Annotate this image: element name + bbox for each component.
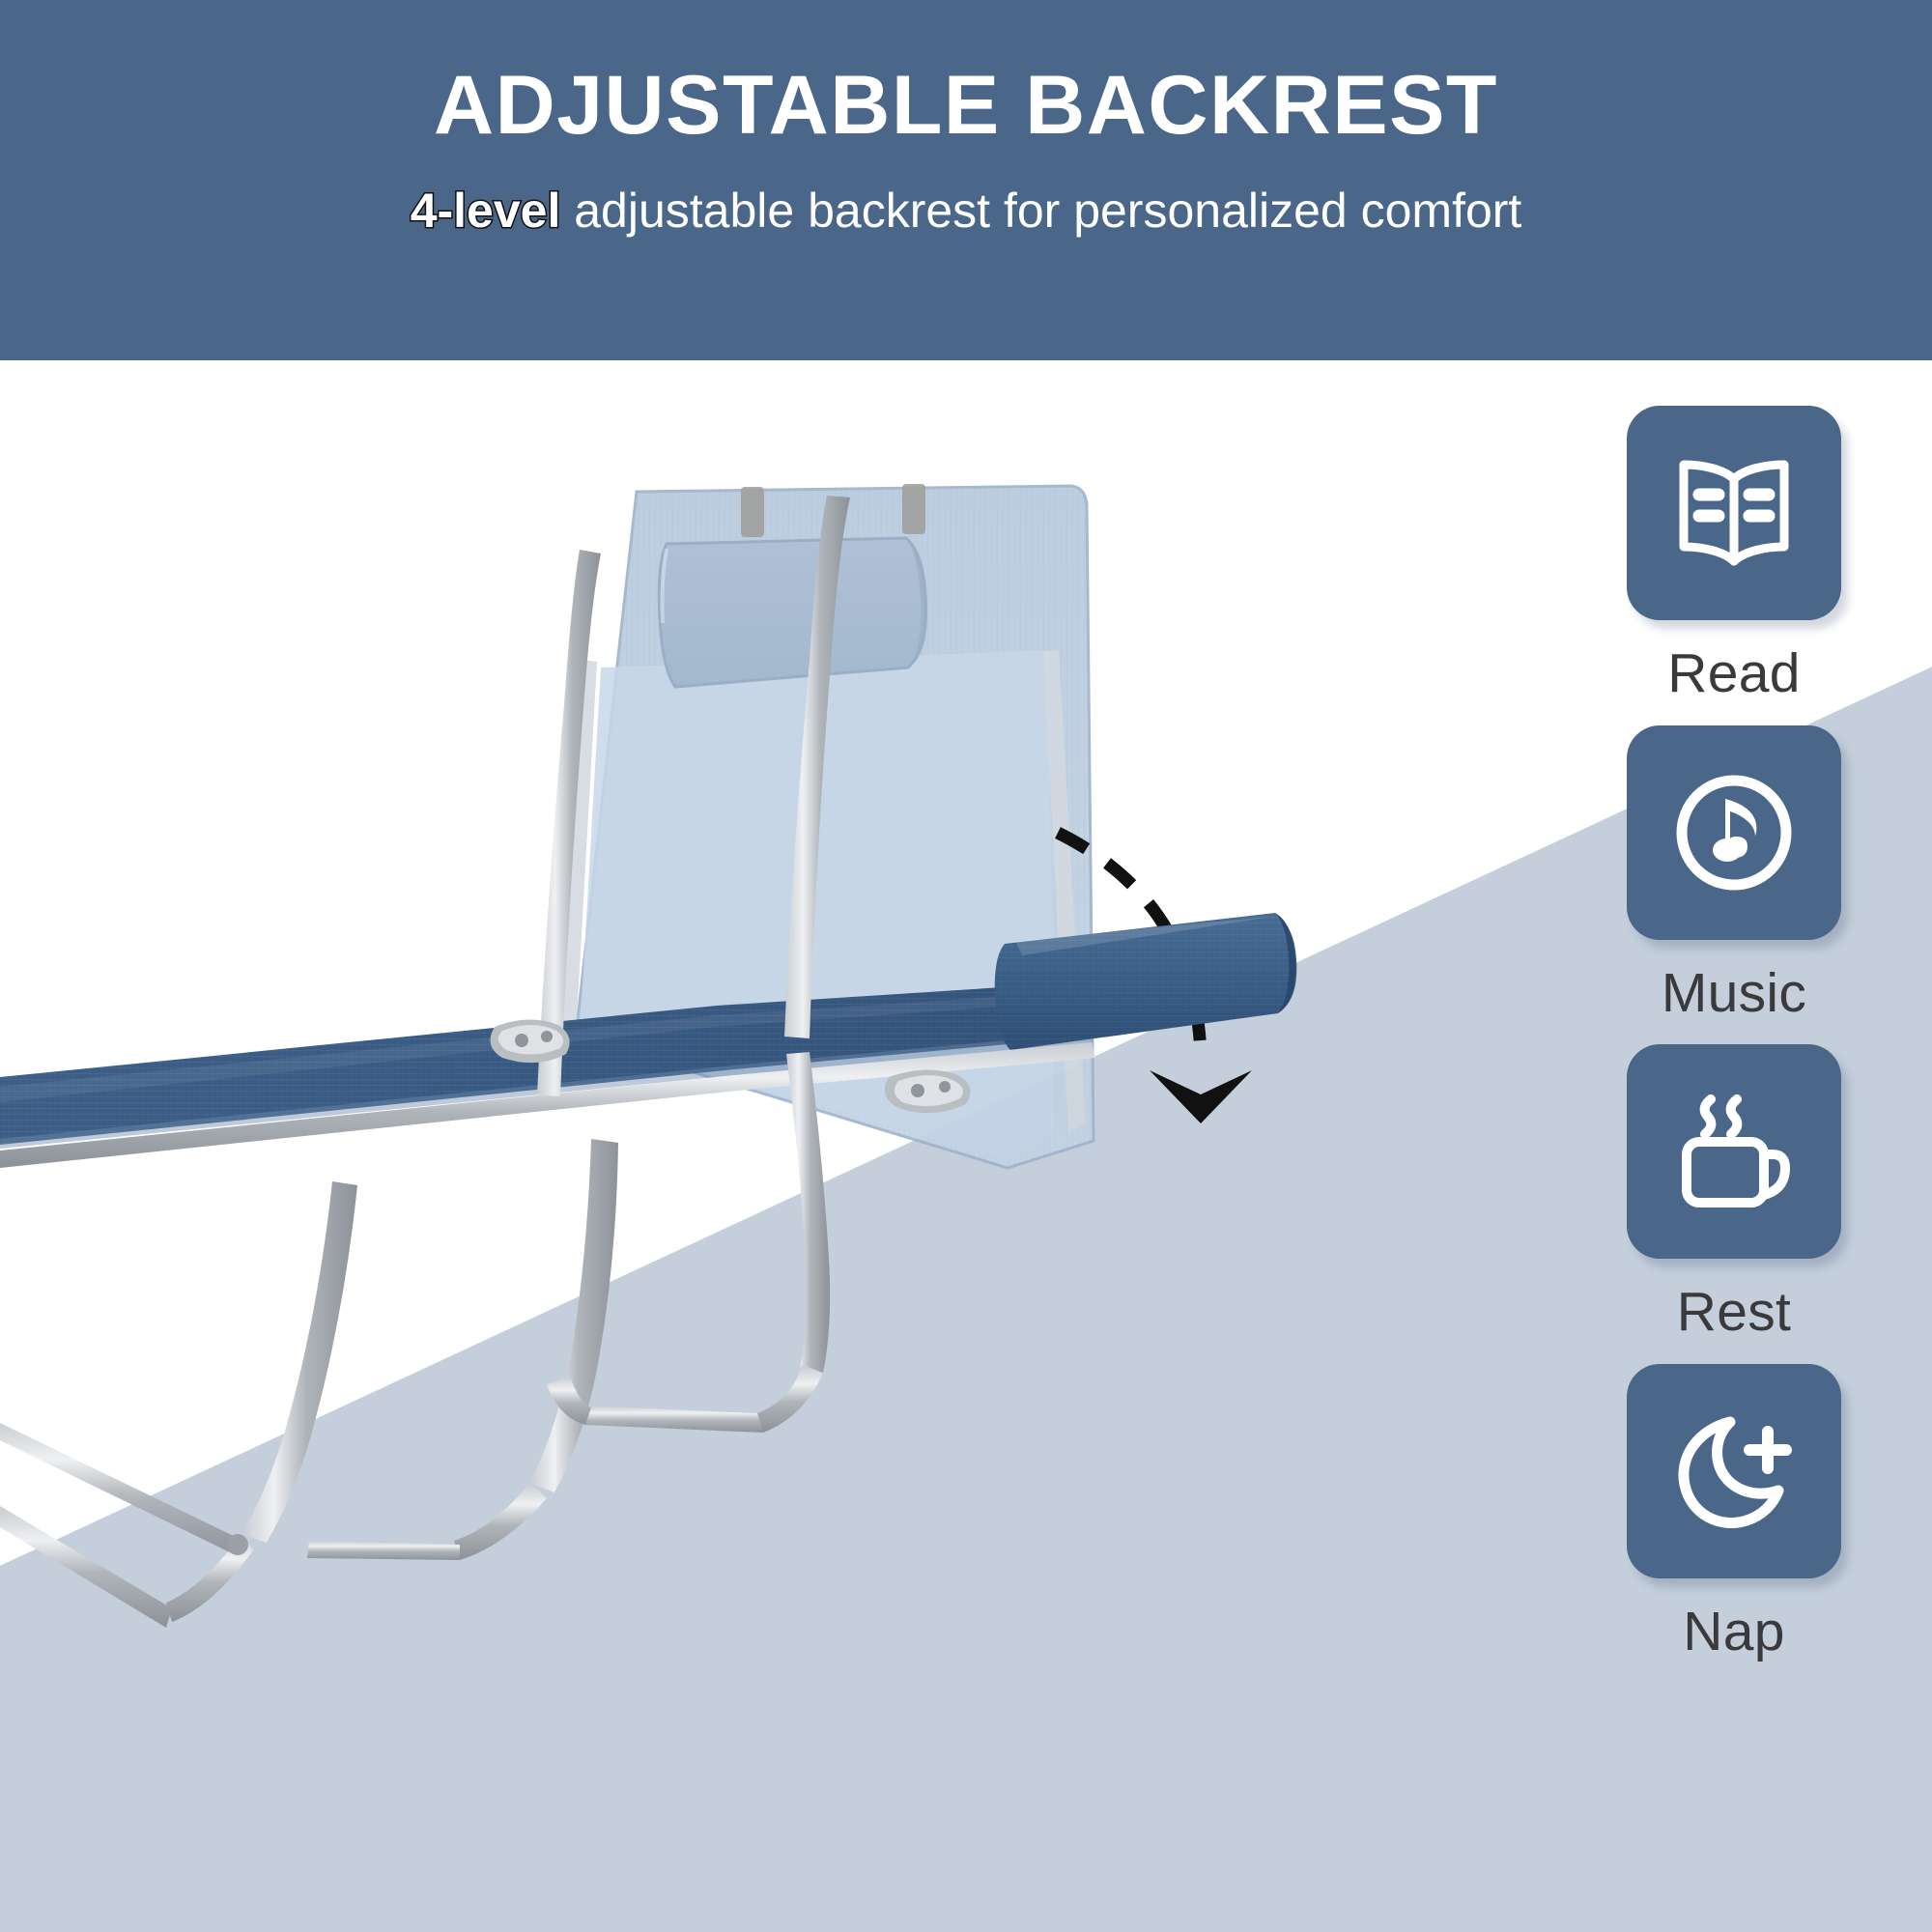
strap-tab xyxy=(902,484,925,534)
subtitle-rest: adjustable backrest for personalized com… xyxy=(560,184,1521,238)
feature-item-read[interactable]: Read xyxy=(1589,406,1879,704)
crescent-moon-plus-icon xyxy=(1669,1408,1799,1534)
feature-card-nap[interactable] xyxy=(1627,1364,1841,1578)
feature-item-music[interactable]: Music xyxy=(1589,725,1879,1024)
bed-fabric xyxy=(0,980,1121,1145)
feature-card-music[interactable] xyxy=(1627,725,1841,940)
hinge-bracket-left xyxy=(491,1019,570,1063)
feature-label-rest: Rest xyxy=(1677,1282,1791,1343)
page-subtitle: 4-level adjustable backrest for personal… xyxy=(411,185,1522,237)
feature-card-rest[interactable] xyxy=(1627,1044,1841,1259)
feature-card-read[interactable] xyxy=(1627,406,1841,620)
page-title: ADJUSTABLE BACKREST xyxy=(434,64,1498,147)
ghost-bolster-pillow xyxy=(659,538,927,687)
ghost-backrest-group xyxy=(558,484,1094,1168)
feature-label-nap: Nap xyxy=(1683,1602,1784,1662)
strap-tab xyxy=(741,487,764,537)
coffee-cup-icon xyxy=(1668,1089,1800,1214)
feature-item-rest[interactable]: Rest xyxy=(1589,1044,1879,1343)
backrest-upright-right xyxy=(784,496,850,1038)
infographic-canvas: ADJUSTABLE BACKREST 4-level adjustable b… xyxy=(0,0,1932,1932)
feature-label-read: Read xyxy=(1667,643,1800,704)
header-banner: ADJUSTABLE BACKREST 4-level adjustable b… xyxy=(0,0,1932,360)
feature-item-nap[interactable]: Nap xyxy=(1589,1364,1879,1662)
open-book-icon xyxy=(1672,456,1796,570)
subtitle-accent: 4-level xyxy=(411,184,561,238)
music-note-circle-icon xyxy=(1670,769,1798,896)
feature-list: Read Music xyxy=(1589,406,1879,1898)
feature-label-music: Music xyxy=(1662,963,1806,1024)
backrest-upright-left xyxy=(537,550,601,1096)
hinge-bracket-right xyxy=(885,1069,971,1113)
